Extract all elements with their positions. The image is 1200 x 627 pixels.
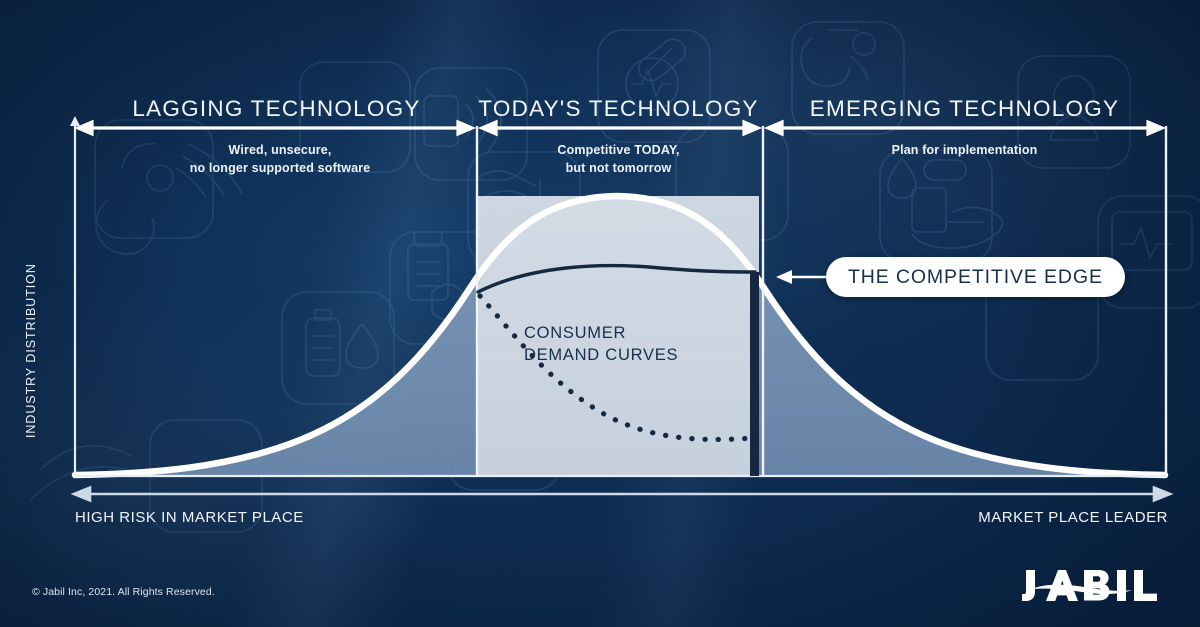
consumer-demand-curves-label-line1: CONSUMER [524, 322, 678, 344]
jabil-logo [1022, 566, 1170, 606]
section-subtitle-emerging-line1: Plan for implementation [763, 142, 1166, 160]
emerging-region-fill [759, 120, 1165, 476]
competitive-edge-bar [750, 272, 759, 476]
x-axis-range-arrow [74, 488, 1170, 501]
competitive-edge-callout-label: THE COMPETITIVE EDGE [848, 266, 1103, 289]
callout-leader-arrow [776, 270, 826, 284]
consumer-demand-curves-label-line2: DEMAND CURVES [524, 344, 678, 366]
copyright-text: © Jabil Inc, 2021. All Rights Reserved. [32, 586, 215, 598]
slide-canvas: LAGGING TECHNOLOGY Wired, unsecure, no l… [0, 0, 1200, 627]
section-subtitle-today: Competitive TODAY, but not tomorrow [478, 142, 759, 178]
section-subtitle-lagging-line1: Wired, unsecure, [100, 142, 460, 160]
section-subtitle-lagging: Wired, unsecure, no longer supported sof… [100, 142, 460, 178]
x-axis-label-right: MARKET PLACE LEADER [978, 509, 1168, 526]
consumer-demand-curves-label: CONSUMER DEMAND CURVES [524, 322, 678, 367]
section-title-emerging: EMERGING TECHNOLOGY [763, 96, 1166, 122]
section-subtitle-today-line1: Competitive TODAY, [478, 142, 759, 160]
section-title-today: TODAY'S TECHNOLOGY [478, 96, 759, 122]
competitive-edge-callout[interactable]: THE COMPETITIVE EDGE [826, 257, 1125, 297]
section-subtitle-emerging: Plan for implementation [763, 142, 1166, 160]
section-subtitle-lagging-line2: no longer supported software [100, 160, 460, 178]
section-title-lagging: LAGGING TECHNOLOGY [75, 96, 478, 122]
section-range-arrows [78, 122, 1162, 134]
x-axis-label-left: HIGH RISK IN MARKET PLACE [75, 509, 304, 526]
bell-curve-chart [0, 0, 1200, 627]
section-subtitle-today-line2: but not tomorrow [478, 160, 759, 178]
y-axis-label: INDUSTRY DISTRIBUTION [24, 218, 38, 438]
